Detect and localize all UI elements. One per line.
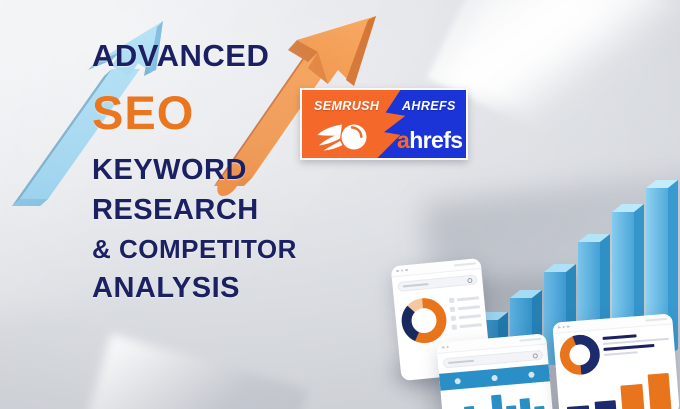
text-line-placeholder: [604, 351, 638, 356]
mixed-bar: [647, 373, 672, 409]
legend-swatch: [452, 325, 457, 330]
ahrefs-wordmark-a: a: [397, 127, 409, 153]
mini-bar: [506, 405, 518, 409]
headline-line-analysis: ANALYSIS: [92, 274, 392, 303]
window-dot: [446, 346, 449, 349]
badge-label-semrush: SEMRUSH: [314, 99, 379, 113]
analytics-card-mixed[interactable]: [552, 313, 679, 409]
window-dot: [405, 269, 408, 272]
window-dot: [396, 270, 399, 273]
text-line-placeholder: [603, 334, 637, 339]
analytics-card-bars[interactable]: [436, 333, 553, 409]
headline-line-competitor: & COMPETITOR: [92, 236, 392, 262]
legend-swatch: [449, 298, 454, 303]
search-placeholder-text: [403, 283, 429, 288]
search-icon[interactable]: [533, 353, 538, 358]
headline-block: ADVANCED SEO KEYWORD RESEARCH & COMPETIT…: [92, 40, 392, 303]
legend-label-placeholder: [458, 305, 480, 310]
chrome-placeholder-line: [454, 262, 476, 266]
headline-line-advanced: ADVANCED: [92, 40, 392, 71]
headline-line-research: RESEARCH: [92, 196, 392, 225]
chrome-placeholder-line: [645, 318, 667, 322]
legend-label-placeholder: [457, 297, 479, 302]
search-placeholder-text: [448, 360, 474, 365]
legend-label-placeholder: [459, 314, 481, 319]
donut-chart: [399, 296, 449, 346]
mini-bar: [464, 406, 476, 409]
mixed-bar: [594, 400, 618, 409]
headline-line-keyword: KEYWORD: [92, 156, 392, 185]
chrome-placeholder-line: [519, 338, 541, 342]
mini-bar: [519, 398, 531, 409]
donut-chart: [558, 333, 601, 376]
window-dot: [442, 346, 445, 349]
window-dot: [401, 269, 404, 272]
toolbar-icon[interactable]: [455, 377, 462, 384]
background-shelf-highlight: [87, 334, 308, 409]
semrush-comet-icon: [316, 121, 370, 153]
toolbar-icon[interactable]: [528, 371, 535, 378]
window-dot: [562, 326, 565, 329]
list-item: [450, 304, 480, 312]
text-line-placeholder: [603, 344, 655, 351]
mixed-bar: [620, 384, 645, 409]
mixed-bar: [567, 405, 590, 409]
list-item: [449, 295, 479, 303]
list-item: [452, 322, 482, 330]
tools-badge: SEMRUSH AHREFS ahrefs: [300, 88, 468, 160]
window-dot: [567, 325, 570, 328]
card-donut-legend-list: [449, 292, 483, 341]
seo-banner: ADVANCED SEO KEYWORD RESEARCH & COMPETIT…: [0, 0, 680, 409]
list-item: [451, 313, 481, 321]
legend-swatch: [451, 316, 456, 321]
legend-label-placeholder: [460, 323, 482, 328]
card-mixed-text-block: [602, 328, 671, 373]
ahrefs-wordmark: ahrefs: [397, 127, 462, 154]
legend-swatch: [450, 307, 455, 312]
background-light-streak-secondary: [449, 0, 680, 153]
window-dot: [558, 326, 561, 329]
ahrefs-wordmark-rest: hrefs: [409, 127, 462, 153]
search-icon[interactable]: [467, 277, 472, 282]
mini-bar: [491, 395, 504, 409]
toolbar-icon[interactable]: [491, 374, 498, 381]
card-search-input[interactable]: [397, 274, 478, 292]
badge-label-ahrefs: AHREFS: [402, 99, 456, 113]
